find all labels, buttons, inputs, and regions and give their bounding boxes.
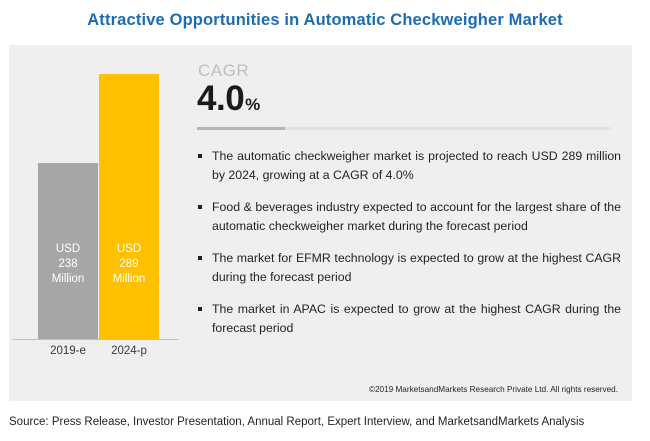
category-label-2024-p: 2024-p: [99, 345, 159, 357]
category-label-2019-e: 2019-e: [38, 345, 98, 357]
title-bar: Attractive Opportunities in Automatic Ch…: [0, 0, 650, 40]
bar-2019-e-label: USD 238 Million: [52, 242, 85, 287]
bullet-square-icon: [198, 307, 202, 311]
bullet-square-icon: [198, 256, 202, 260]
source-note: Source: Press Release, Investor Presenta…: [9, 416, 584, 428]
list-item-text: The market in APAC is expected to grow a…: [212, 302, 621, 335]
bullet-square-icon: [198, 205, 202, 209]
copyright-notice: ©2019 MarketsandMarkets Research Private…: [369, 385, 618, 394]
bar-2024-p-label-line3: Million: [113, 272, 146, 287]
list-item: Food & beverages industry expected to ac…: [197, 198, 621, 235]
list-item-text: Food & beverages industry expected to ac…: [212, 200, 621, 233]
insight-bullet-list: The automatic checkweigher market is pro…: [197, 147, 621, 337]
market-size-bar-chart: USD 238 Million USD 289 Million 2019-e 2…: [9, 45, 181, 401]
list-item-text: The market for EFMR technology is expect…: [212, 251, 621, 284]
bar-2024-p-label-line2: 289: [113, 257, 146, 272]
list-item: The automatic checkweigher market is pro…: [197, 147, 621, 184]
bar-2024-p-label: USD 289 Million: [113, 242, 146, 287]
panel-divider: [197, 127, 611, 130]
infographic-card: USD 238 Million USD 289 Million 2019-e 2…: [9, 45, 632, 401]
cagr-value: 4.0: [197, 81, 244, 116]
cagr-value-group: 4.0 %: [197, 81, 260, 116]
cagr-label: CAGR: [198, 61, 249, 81]
chart-x-axis-line: [12, 339, 178, 340]
list-item: The market for EFMR technology is expect…: [197, 249, 621, 286]
panel-divider-accent: [197, 127, 285, 130]
cagr-percent-sign: %: [245, 95, 260, 115]
bar-2024-p[interactable]: USD 289 Million: [99, 74, 159, 339]
chart-category-labels: 2019-e 2024-p: [9, 345, 181, 365]
bar-2024-p-label-line1: USD: [113, 242, 146, 257]
insights-panel: CAGR 4.0 % The automatic checkweigher ma…: [188, 45, 632, 401]
list-item: The market in APAC is expected to grow a…: [197, 300, 621, 337]
chart-plot-area: USD 238 Million USD 289 Million: [9, 45, 181, 339]
bar-2019-e-label-line1: USD: [52, 242, 85, 257]
bar-2019-e[interactable]: USD 238 Million: [38, 163, 98, 339]
page-title: Attractive Opportunities in Automatic Ch…: [87, 11, 563, 30]
bullet-square-icon: [198, 154, 202, 158]
list-item-text: The automatic checkweigher market is pro…: [212, 149, 621, 182]
bar-2019-e-label-line3: Million: [52, 272, 85, 287]
bar-2019-e-label-line2: 238: [52, 257, 85, 272]
